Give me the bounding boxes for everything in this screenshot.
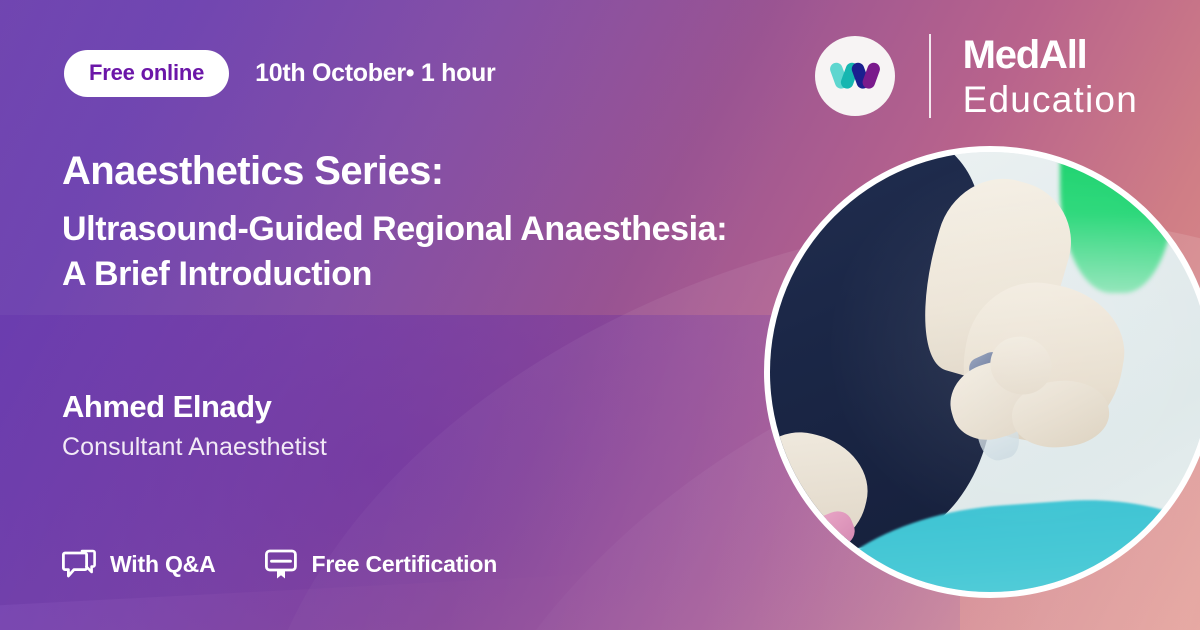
brand-name-text: MedAll bbox=[963, 35, 1138, 75]
medall-m-logo-icon bbox=[830, 49, 880, 104]
series-title: Anaesthetics Series: bbox=[62, 148, 727, 195]
brand-divider bbox=[929, 34, 931, 118]
feature-certification-label: Free Certification bbox=[312, 551, 498, 578]
date-duration-text: 10th October• 1 hour bbox=[255, 59, 495, 88]
brand-lockup: MedAll Education bbox=[815, 34, 1138, 118]
feature-certification: Free Certification bbox=[264, 548, 498, 580]
feature-row: With Q&A Free Certification bbox=[62, 548, 497, 580]
header-meta-row: Free online 10th October• 1 hour bbox=[64, 50, 495, 97]
feature-qa: With Q&A bbox=[62, 549, 216, 579]
speaker-role: Consultant Anaesthetist bbox=[62, 431, 327, 464]
speaker-name: Ahmed Elnady bbox=[62, 388, 327, 427]
session-title-line-1: Ultrasound-Guided Regional Anaesthesia: bbox=[62, 207, 727, 252]
chat-bubbles-icon bbox=[62, 549, 96, 579]
free-online-badge: Free online bbox=[64, 50, 229, 97]
webinar-banner: Free online 10th October• 1 hour MedAll … bbox=[0, 0, 1200, 630]
brand-wordmark: MedAll Education bbox=[963, 35, 1138, 118]
title-block: Anaesthetics Series: Ultrasound-Guided R… bbox=[62, 148, 727, 297]
session-title-line-2: A Brief Introduction bbox=[62, 252, 727, 297]
brand-subtitle-text: Education bbox=[963, 81, 1138, 118]
photo-highlight bbox=[770, 152, 1200, 592]
certificate-icon bbox=[264, 548, 298, 580]
medall-logo-mark bbox=[815, 36, 895, 116]
speaker-topic-photo bbox=[764, 146, 1200, 598]
speaker-block: Ahmed Elnady Consultant Anaesthetist bbox=[62, 388, 327, 463]
feature-qa-label: With Q&A bbox=[110, 551, 216, 578]
photo-inner bbox=[770, 152, 1200, 592]
